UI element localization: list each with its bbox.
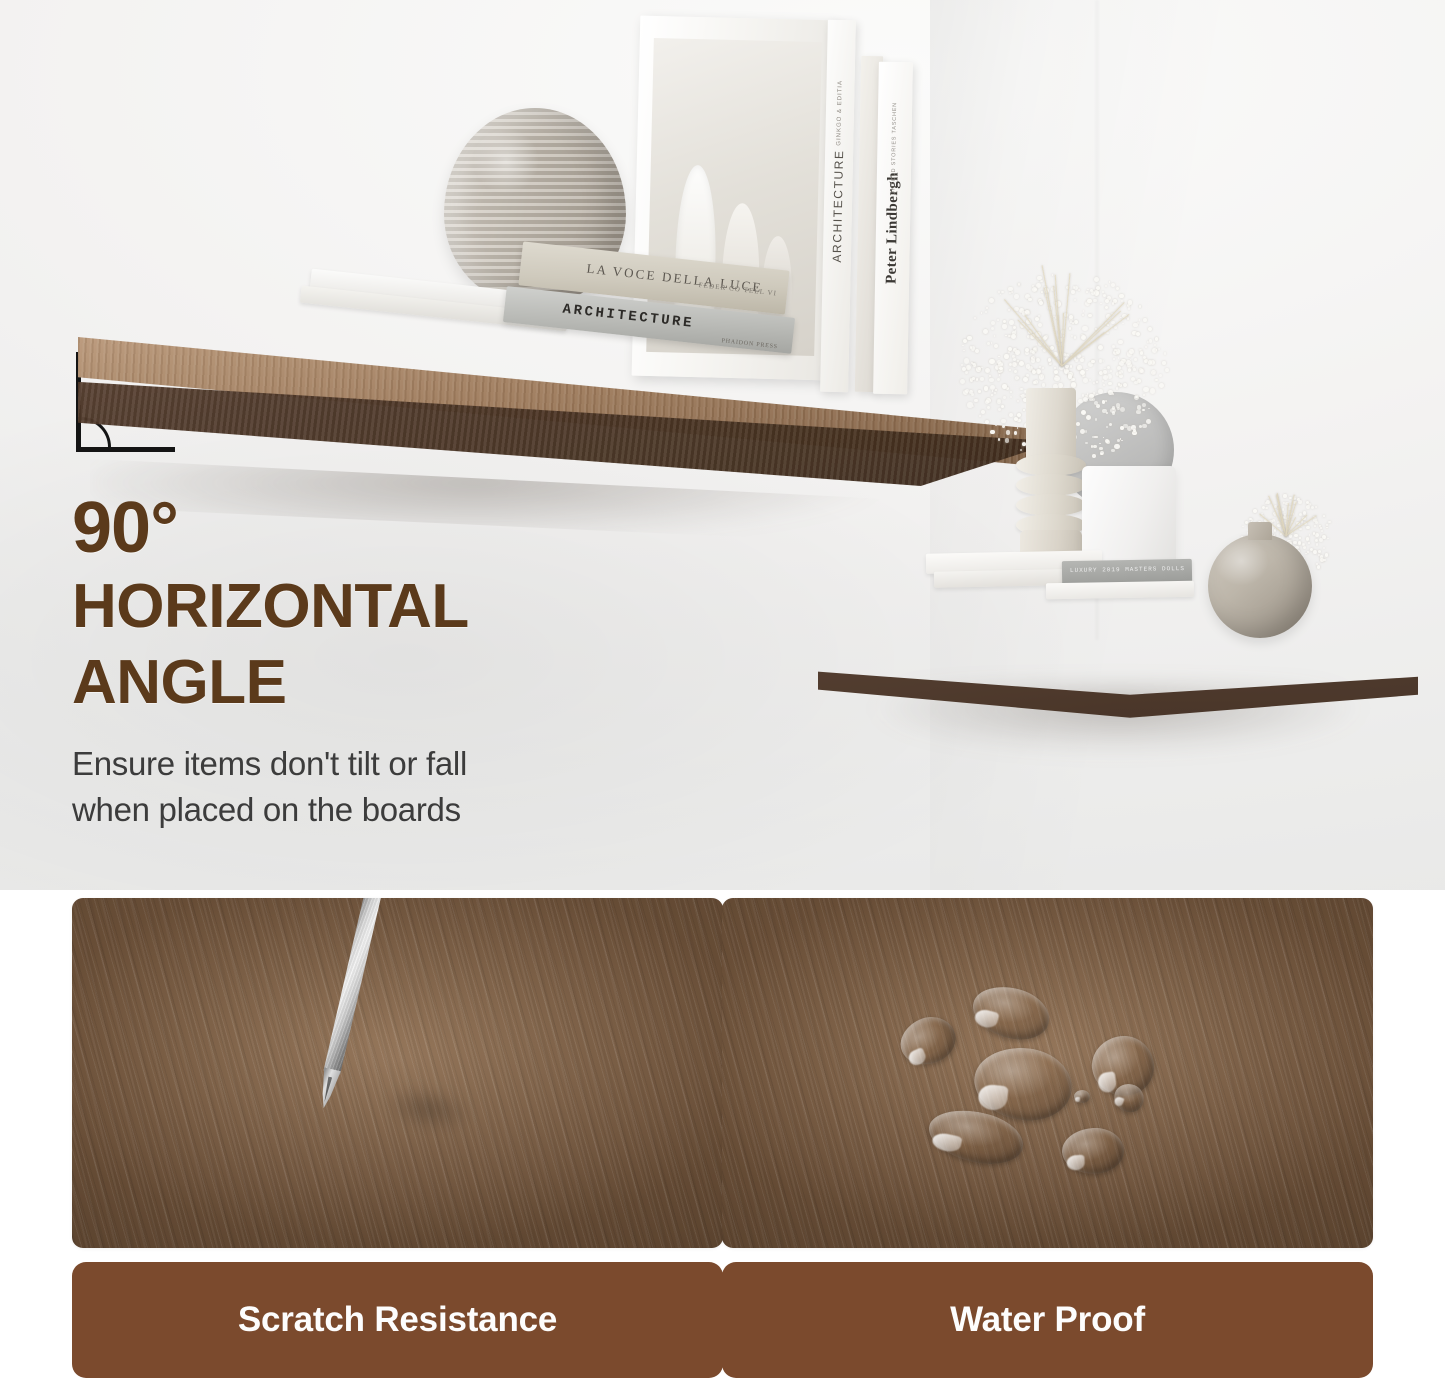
flower-bud — [1121, 359, 1125, 363]
flower-bud — [1001, 291, 1004, 294]
flower-bud — [1301, 520, 1304, 523]
flower-bud — [1100, 303, 1102, 305]
flower-bud — [1136, 332, 1140, 336]
flower-bud — [1044, 288, 1048, 292]
flower-bud — [1310, 548, 1313, 551]
flower-bud — [1129, 349, 1134, 354]
book-title: LUXURY 2019 MASTERS DOLLS — [1070, 565, 1185, 574]
flower-bud — [1018, 284, 1020, 286]
flower-bud — [1108, 382, 1111, 385]
flower-bud — [1156, 349, 1157, 350]
flower-bud — [1009, 292, 1011, 294]
flower-bud — [1102, 380, 1104, 382]
flower-bud — [1320, 558, 1324, 562]
flower-bud — [1132, 331, 1137, 336]
flower-bud — [1112, 302, 1114, 304]
flower-bud — [1116, 287, 1119, 290]
flower-bud — [1285, 532, 1287, 534]
flower-bud — [1293, 541, 1296, 544]
flower-bud — [1072, 322, 1074, 324]
flower-bud — [1323, 515, 1325, 517]
flower-bud — [1286, 517, 1290, 521]
flower-bud — [1065, 365, 1068, 368]
flower-bud — [1074, 286, 1078, 290]
flower-bud — [1127, 317, 1130, 320]
flower-bud — [1298, 541, 1301, 544]
flower-stem — [1277, 493, 1287, 536]
flower-bud — [1082, 314, 1084, 316]
flower-bud — [1151, 370, 1156, 375]
flower-bud — [1068, 365, 1070, 367]
flower-bud — [1277, 521, 1280, 524]
flower-bud — [1117, 366, 1121, 370]
flower-bud — [1294, 496, 1296, 498]
vase-neck — [1026, 388, 1076, 460]
flower-bud — [1273, 512, 1276, 515]
flower-bud — [1116, 352, 1119, 355]
flower-bud — [1045, 293, 1047, 295]
flower-bud — [1068, 372, 1072, 376]
flower-bud — [1121, 300, 1123, 302]
flower-bud — [1111, 313, 1114, 316]
flower-bud — [1139, 368, 1143, 372]
flower-bud — [1018, 283, 1021, 286]
flower-bud — [1315, 539, 1318, 542]
flower-bud — [1305, 553, 1307, 555]
flower-bud — [1071, 354, 1073, 356]
flower-bud — [1051, 287, 1055, 291]
flower-stem — [1285, 517, 1296, 536]
flower-bud — [1066, 367, 1068, 369]
flower-bud — [1091, 360, 1094, 363]
flower-bud — [1149, 339, 1153, 343]
flower-bud — [1328, 521, 1330, 523]
scratch-resistance-label-bar: Scratch Resistance — [72, 1262, 723, 1378]
flower-bud — [1283, 516, 1286, 519]
flower-bud — [1094, 277, 1099, 282]
flower-bud — [1293, 501, 1297, 505]
flower-bud — [1299, 513, 1302, 516]
flower-bud — [1159, 374, 1162, 377]
flower-bud — [1132, 349, 1134, 351]
flower-bud — [1319, 525, 1321, 527]
headline-title-line1: HORIZONTAL — [72, 574, 762, 640]
flower-bud — [1320, 527, 1322, 529]
flower-bud — [1140, 351, 1143, 354]
flower-bud — [1113, 350, 1118, 355]
scratch-resistance-label: Scratch Resistance — [238, 1300, 557, 1340]
flower-bud — [1296, 522, 1299, 525]
flower-bud — [1144, 359, 1148, 363]
flower-bud — [1288, 530, 1290, 532]
flower-bud — [1075, 359, 1078, 362]
flower-bud — [1095, 328, 1097, 330]
flower-bud — [1309, 534, 1310, 535]
flower-bud — [1112, 345, 1115, 348]
flower-bud — [1119, 361, 1124, 366]
book-bottom-shelf-white — [1046, 581, 1194, 600]
flower-bud — [1150, 388, 1155, 393]
vase-neck — [1248, 522, 1272, 540]
flower-bud — [1083, 378, 1088, 383]
flower-bud — [1086, 369, 1088, 371]
flower-bud — [1120, 317, 1122, 319]
flower-bud — [1088, 362, 1093, 367]
flower-bud — [1265, 507, 1268, 510]
flower-bud — [1284, 514, 1286, 516]
flower-bud — [1132, 366, 1135, 369]
flower-bud — [1287, 531, 1289, 533]
flower-stem — [1285, 495, 1294, 537]
flower-bud — [1071, 382, 1076, 387]
flower-bud — [1105, 322, 1108, 325]
flower-bud — [1159, 383, 1164, 388]
flower-bud — [1326, 524, 1328, 526]
flower-bud — [1326, 527, 1327, 528]
flower-bud — [1315, 533, 1319, 537]
flower-bud — [1059, 365, 1064, 370]
flower-bud — [1040, 280, 1043, 283]
flower-bud — [1137, 322, 1139, 324]
flower-bud — [1291, 512, 1294, 515]
flower-bud — [1313, 516, 1315, 518]
flower-bud — [1155, 337, 1159, 341]
flower-bud — [1000, 294, 1002, 296]
flower-bud — [1143, 394, 1145, 396]
flower-bud — [1318, 550, 1321, 553]
flower-stem — [1057, 315, 1062, 366]
flower-bud — [1319, 538, 1323, 542]
flower-bud — [1280, 516, 1284, 520]
flower-bud — [1306, 537, 1310, 541]
flower-bud — [1322, 535, 1326, 539]
flower-bud — [1165, 368, 1169, 372]
flower-bud — [1093, 382, 1095, 384]
flower-bud — [1323, 547, 1325, 549]
flower-bud — [1119, 294, 1124, 299]
flower-bud — [1041, 291, 1043, 293]
flower-bud — [1102, 291, 1104, 293]
flower-bud — [1152, 348, 1157, 353]
flower-bud — [1114, 326, 1117, 329]
flower-bud — [1087, 345, 1089, 347]
flower-bud — [1133, 323, 1138, 328]
flower-bud — [1014, 294, 1019, 299]
flower-bud — [1148, 327, 1152, 331]
book-spine-author: GINKGO & EDITIA — [836, 79, 843, 145]
flower-bud — [1283, 502, 1285, 504]
flower-stem — [1285, 502, 1296, 536]
flower-bud — [1065, 318, 1066, 319]
flower-bud — [1087, 289, 1089, 291]
flower-stem — [1062, 314, 1130, 366]
flower-bud — [1060, 363, 1063, 366]
flower-bud — [1275, 528, 1276, 529]
headline-subtitle-line1: Ensure items don't tilt or fall — [72, 741, 762, 787]
flower-bud — [1315, 506, 1317, 508]
flower-bud — [1139, 349, 1142, 352]
flower-bud — [1127, 351, 1132, 356]
flower-bud — [1058, 361, 1059, 362]
flower-bud — [1105, 299, 1109, 303]
headline-subtitle-line2: when placed on the boards — [72, 787, 762, 833]
flower-bud — [1251, 519, 1253, 521]
flower-bud — [1086, 291, 1088, 293]
flower-bud — [1155, 379, 1158, 382]
flower-bud — [1122, 314, 1127, 319]
flower-bud — [1318, 554, 1321, 557]
flower-bud — [1107, 366, 1110, 369]
flower-bud — [1143, 387, 1148, 392]
flower-bud — [1065, 354, 1068, 357]
flower-bud — [1065, 357, 1069, 361]
flower-bud — [1032, 285, 1034, 287]
ribbed-pedestal-vase — [1012, 388, 1090, 578]
feature-scratch-resistance: Scratch Resistance — [72, 898, 723, 1378]
flower-bud — [1280, 533, 1282, 535]
flower-bud — [1294, 534, 1298, 538]
flower-bud — [1113, 358, 1115, 360]
flower-bud — [1123, 383, 1127, 387]
flower-bud — [1085, 301, 1090, 306]
flower-bud — [1307, 551, 1310, 554]
flower-bud — [1303, 544, 1305, 546]
flower-stem — [1286, 515, 1308, 537]
floating-shelf-lower — [818, 600, 1418, 760]
flower-bud — [1302, 517, 1306, 521]
flower-bud — [1303, 511, 1307, 515]
flower-bud — [1297, 498, 1301, 502]
flower-stem — [1061, 273, 1070, 366]
flower-bud — [1091, 291, 1095, 295]
flower-bud — [1128, 307, 1131, 310]
flower-bud — [1025, 294, 1030, 299]
flower-bud — [1261, 513, 1263, 515]
scratch-resistance-photo — [72, 898, 723, 1248]
flower-bud — [1321, 530, 1323, 532]
flower-bud — [1082, 374, 1085, 377]
flower-bud — [1147, 341, 1149, 343]
flower-bud — [1114, 349, 1117, 352]
water-proof-label-bar: Water Proof — [722, 1262, 1373, 1378]
flower-bud — [1154, 344, 1156, 346]
flower-bud — [1106, 314, 1111, 319]
flower-bud — [1122, 323, 1124, 325]
flower-bud — [1253, 509, 1257, 513]
flower-bud — [1070, 380, 1072, 382]
flower-bud — [1110, 370, 1112, 372]
flower-bud — [1058, 338, 1062, 342]
flower-bud — [1118, 340, 1123, 345]
flower-bud — [1134, 358, 1137, 361]
flower-bud — [1069, 327, 1072, 330]
flower-bud — [1081, 335, 1086, 340]
flower-bud — [1308, 542, 1311, 545]
product-feature-canvas: ARCHITECTURE GINKGO & EDITIA Peter Lindb… — [0, 0, 1445, 1376]
flower-bud — [1133, 368, 1136, 371]
flower-bud — [1313, 550, 1317, 554]
flower-bud — [1064, 369, 1069, 374]
flower-stem — [1276, 494, 1287, 536]
flower-bud — [1327, 538, 1328, 539]
headline-block: 90° HORIZONTAL ANGLE Ensure items don't … — [72, 492, 762, 833]
flower-bud — [1096, 286, 1101, 291]
flower-stem — [1285, 501, 1293, 536]
flower-bud — [1077, 354, 1081, 358]
flower-bud — [1059, 357, 1061, 359]
feature-panels: Scratch Resistance Water Proof — [0, 890, 1445, 1376]
flower-bud — [1063, 353, 1066, 356]
headline-degree: 90° — [72, 492, 762, 564]
flower-stem — [1061, 313, 1064, 366]
flower-bud — [1311, 506, 1314, 509]
flower-stem — [1286, 515, 1317, 536]
flower-bud — [1314, 525, 1316, 527]
flower-bud — [1282, 516, 1284, 518]
flower-bud — [1286, 531, 1289, 534]
flower-bud — [1065, 365, 1068, 368]
flower-bud — [1320, 555, 1324, 559]
flower-bud — [1290, 540, 1292, 542]
flower-bud — [1069, 317, 1073, 321]
flower-bud — [1060, 363, 1062, 365]
flower-bud — [1073, 286, 1075, 288]
flower-bud — [1111, 283, 1115, 287]
flower-bud — [1279, 515, 1282, 518]
flower-bud — [1096, 381, 1098, 383]
flower-stem — [1277, 495, 1287, 536]
flower-bud — [1071, 290, 1074, 293]
flower-bud — [1068, 374, 1073, 379]
flower-bud — [1269, 501, 1271, 503]
flower-bud — [1104, 368, 1106, 370]
flower-bud — [1074, 357, 1076, 359]
flower-bud — [1070, 321, 1072, 323]
flower-bud — [1077, 365, 1082, 370]
flower-bud — [1274, 529, 1276, 531]
flower-bud — [1119, 372, 1121, 374]
flower-bud — [1302, 543, 1305, 546]
wood-surface — [72, 898, 723, 1248]
flower-bud — [1274, 514, 1276, 516]
flower-bud — [1285, 502, 1288, 505]
flower-bud — [1127, 363, 1132, 368]
flower-bud — [1103, 370, 1106, 373]
flower-bud — [1249, 518, 1252, 521]
flower-bud — [1291, 521, 1293, 523]
flower-bud — [1081, 334, 1084, 337]
book-spine-title: ARCHITECTURE — [830, 149, 846, 262]
flower-bud — [1071, 335, 1073, 337]
flower-bud — [1299, 537, 1301, 539]
flower-bud — [1289, 516, 1291, 518]
flower-bud — [1118, 383, 1121, 386]
flower-bud — [1058, 347, 1063, 352]
vase-ring — [1016, 454, 1086, 476]
flower-bud — [1306, 526, 1309, 529]
flower-bud — [1071, 378, 1074, 381]
flower-bud — [1277, 507, 1279, 509]
flower-bud — [1304, 522, 1307, 525]
flower-bud — [1162, 361, 1165, 364]
flower-bud — [1105, 285, 1107, 287]
flower-bud — [1107, 374, 1112, 379]
flower-bud — [1137, 379, 1141, 383]
flower-bud — [1118, 357, 1120, 359]
flower-bud — [1316, 563, 1318, 565]
flower-bud — [1093, 299, 1097, 303]
flower-bud — [1074, 336, 1077, 339]
flower-bud — [1064, 369, 1065, 370]
flower-bud — [1321, 559, 1324, 562]
flower-bud — [1153, 372, 1155, 374]
flower-bud — [1131, 377, 1136, 382]
flower-bud — [1325, 553, 1329, 557]
flower-bud — [1099, 359, 1103, 363]
flower-bud — [1116, 387, 1118, 389]
vase-ring — [1016, 494, 1086, 516]
flower-bud — [1290, 531, 1293, 534]
flower-bud — [1077, 367, 1080, 370]
flower-bud — [998, 291, 1000, 293]
flower-bud — [1128, 300, 1132, 304]
flower-bud — [1134, 381, 1138, 385]
flower-bud — [1008, 287, 1013, 292]
flower-bud — [1285, 495, 1286, 496]
flower-bud — [1045, 293, 1049, 297]
flower-bud — [1139, 319, 1141, 321]
flower-bud — [1119, 374, 1123, 378]
flower-bud — [1323, 559, 1326, 562]
flower-bud — [1287, 516, 1290, 519]
flower-bud — [1064, 313, 1068, 317]
flower-stem — [1285, 503, 1289, 536]
flower-bud — [1262, 506, 1265, 509]
flower-bud — [1126, 360, 1131, 365]
flower-bud — [1266, 500, 1270, 504]
flower-bud — [1106, 332, 1108, 334]
flower-bud — [1052, 274, 1054, 276]
flower-bud — [1119, 370, 1123, 374]
flower-bud — [1316, 543, 1318, 545]
flower-bud — [1113, 299, 1117, 303]
flower-bud — [1078, 289, 1080, 291]
flower-bud — [1158, 348, 1160, 350]
flower-stem — [1277, 506, 1287, 536]
flower-bud — [1099, 371, 1103, 375]
vase-ring — [1016, 474, 1086, 496]
flower-bud — [1150, 360, 1155, 365]
flower-stem — [1062, 311, 1122, 367]
flower-bud — [1145, 346, 1147, 348]
flower-bud — [1107, 296, 1111, 300]
feature-water-proof: Water Proof — [722, 898, 1373, 1378]
flower-bud — [1130, 359, 1131, 360]
flower-bud — [1111, 321, 1115, 325]
flower-bud — [1109, 281, 1111, 283]
hero-scene: ARCHITECTURE GINKGO & EDITIA Peter Lindb… — [0, 0, 1445, 890]
flower-bud — [1094, 290, 1099, 295]
flower-bud — [1103, 375, 1108, 380]
flower-bud — [1087, 299, 1092, 304]
flower-bud — [1082, 357, 1084, 359]
flower-bud — [1089, 379, 1091, 381]
flower-bud — [1282, 528, 1285, 531]
flower-bud — [1070, 365, 1072, 367]
flower-bud — [1139, 305, 1142, 308]
flower-bud — [1044, 286, 1046, 288]
flower-bud — [1032, 287, 1037, 292]
